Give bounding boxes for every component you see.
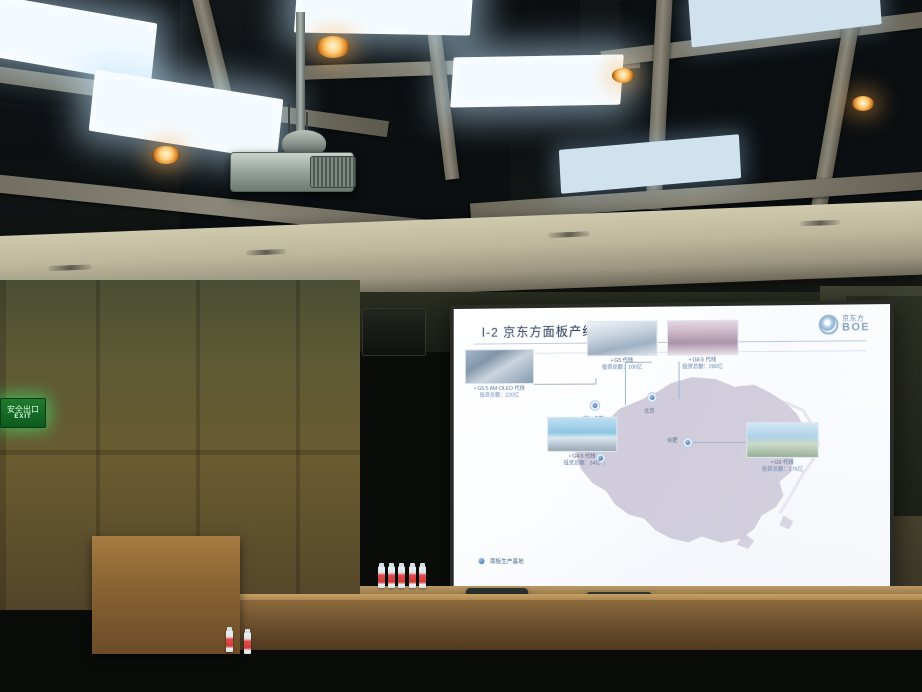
slide-legend: 面板生产基地 [478,556,524,565]
ceiling-downlight [852,96,874,111]
wall-monitor [362,308,426,356]
audience-head [0,678,50,692]
boe-logo-en: BOE [842,322,870,333]
screen-surface: Ⅰ-2 京东方面板产线基地 京东方 BOE [454,304,890,591]
callout-beijing-g85: • G8.5 代线 投资总额：280亿 [667,320,738,372]
callout-amount: 投资总额：100亿 [587,365,658,372]
legend-pin-icon [478,557,485,565]
callout-amount: 投资总额：280亿 [667,364,738,371]
callout-photo [547,417,617,452]
callout-leader-line [595,378,596,385]
water-bottle [378,566,385,588]
stage-front [230,600,922,650]
exit-sign-label-en: EXIT [14,414,31,421]
boe-logo: 京东方 BOE [818,314,870,334]
ceiling-light-panel [450,54,623,107]
water-bottle [388,566,395,588]
ceiling-downlight [152,146,180,164]
map-city-label: 北京 [644,407,655,415]
map-pin-beijing [648,393,657,402]
callout-photo [746,422,818,458]
water-bottle [226,630,233,652]
callout-photo [587,320,658,356]
callout-amount: 投资总额：175亿 [746,467,818,474]
callout-amount: 投资总额：34亿 [547,461,617,468]
callout-chengdu: • G4.5 代线 投资总额：34亿 [547,417,617,468]
callout-photo [667,320,738,356]
callout-hefei: • G6 代线 投资总额：175亿 [746,422,818,474]
map-city-label: 合肥 [667,436,678,444]
lecture-hall-photo: 安全出口 EXIT Ⅰ-2 京东方面板产线基地 京东方 BOE [0,0,922,692]
exit-sign: 安全出口 EXIT [0,398,46,428]
map-pin-ordos [591,401,600,410]
water-bottle [409,566,416,588]
callout-photo [465,349,534,384]
boe-mark-icon [818,315,838,335]
projector-lens [310,156,356,188]
ceiling-downlight [612,68,634,83]
callout-ordos: • G5.5 AM-OLED 代线 投资总额：220亿 [465,349,534,400]
podium [92,536,240,654]
legend-label: 面板生产基地 [490,556,524,565]
water-bottle [419,566,426,588]
ceiling-downlight [316,36,350,58]
presentation-slide: Ⅰ-2 京东方面板产线基地 京东方 BOE [454,304,890,591]
projection-screen: Ⅰ-2 京东方面板产线基地 京东方 BOE [450,300,894,595]
callout-beijing-g5: • G5 代线 投资总额：100亿 [587,320,658,371]
callout-amount: 投资总额：220亿 [465,393,534,400]
map-pin-hefei [683,438,692,447]
ceiling-light-panel [294,0,474,36]
callout-leader-line [686,442,746,443]
water-bottle [244,632,251,654]
water-bottle [398,566,405,588]
exit-sign-label-cn: 安全出口 [7,405,39,414]
